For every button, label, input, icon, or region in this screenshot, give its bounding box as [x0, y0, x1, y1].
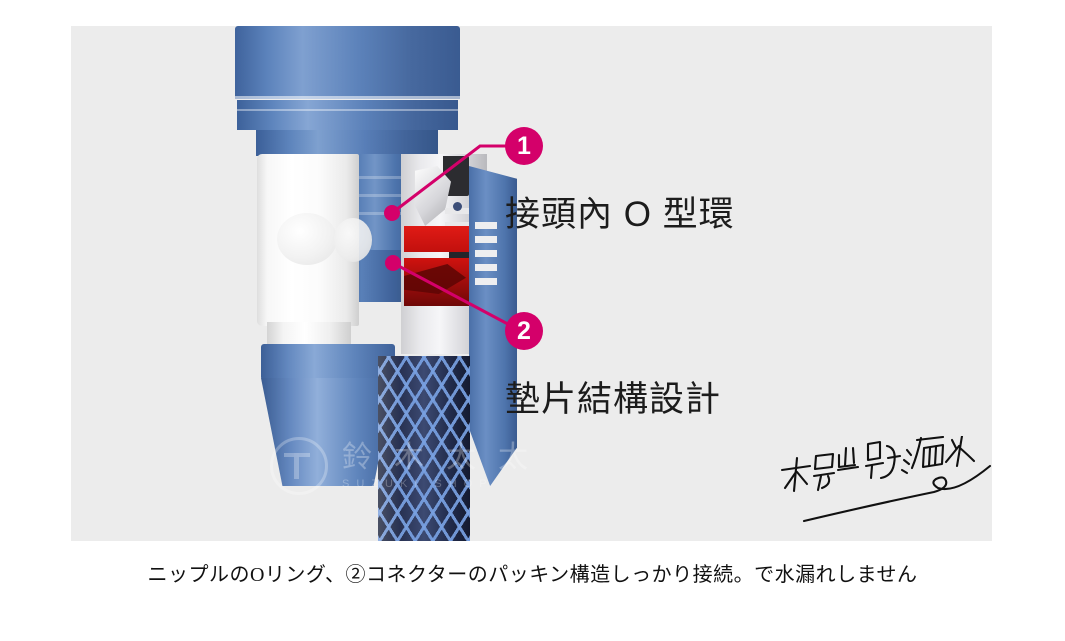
- callout-label-2: 墊片結構設計: [505, 371, 721, 422]
- callout-label-1: 接頭內 O 型環: [505, 186, 735, 237]
- handwritten-note: 不易出現漏水: [776, 436, 992, 531]
- callout-badge-2: 2: [505, 312, 543, 350]
- product-image-panel: 鈴木太太 SUZUKI SHOP 1 接頭內 O 型環 2 墊片結構設計 不易出…: [71, 26, 992, 541]
- bottom-caption: ニップルのOリング、②コネクターのパッキン構造しっかり接続。で水漏れしません: [0, 558, 1065, 587]
- callout-badge-1: 1: [505, 127, 543, 165]
- screenshot-root: 鈴木太太 SUZUKI SHOP 1 接頭內 O 型環 2 墊片結構設計 不易出…: [0, 0, 1065, 641]
